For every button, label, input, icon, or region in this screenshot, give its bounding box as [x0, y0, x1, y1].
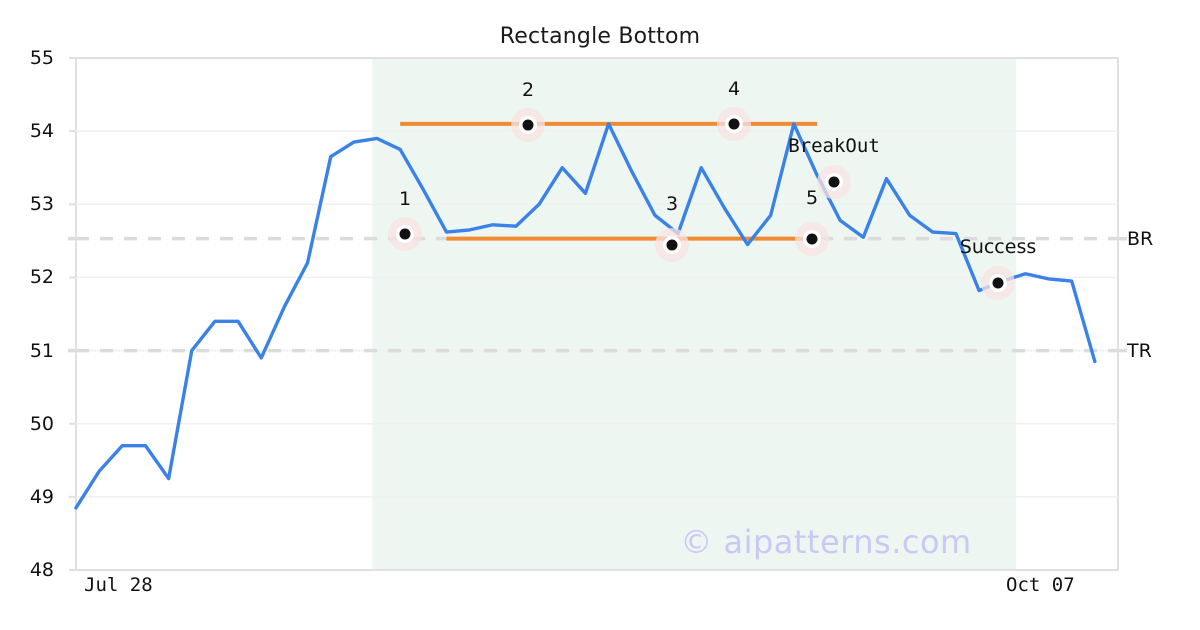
watermark: © aipatterns.com: [680, 523, 971, 561]
chart-container: Rectangle Bottom 4849505152535455 BRTR J…: [0, 0, 1200, 630]
annotation-label-success: Success: [960, 236, 1036, 258]
hline-label-br: BR: [1127, 228, 1153, 250]
y-tick-label: 52: [0, 266, 54, 288]
annotation-label-1: 1: [399, 188, 411, 210]
annotation-label-2: 2: [522, 79, 534, 101]
chart-canvas: [0, 0, 1200, 630]
y-tick-label: 48: [0, 559, 54, 581]
x-tick-label: Oct 07: [1006, 574, 1075, 596]
annotation-label-5: 5: [806, 187, 818, 209]
annotation-label-3: 3: [666, 193, 678, 215]
y-tick-label: 51: [0, 340, 54, 362]
x-tick-label: Jul 28: [84, 574, 153, 596]
y-tick-label: 55: [0, 47, 54, 69]
annotation-label-4: 4: [728, 78, 740, 100]
y-tick-label: 49: [0, 486, 54, 508]
page-title: Rectangle Bottom: [0, 24, 1200, 49]
y-tick-label: 54: [0, 120, 54, 142]
y-tick-marks: [69, 58, 76, 570]
y-tick-label: 50: [0, 413, 54, 435]
annotation-label-breakout: BreakOut: [788, 135, 880, 157]
hline-label-tr: TR: [1127, 340, 1152, 362]
highlight-region: [372, 58, 1016, 570]
y-tick-label: 53: [0, 193, 54, 215]
